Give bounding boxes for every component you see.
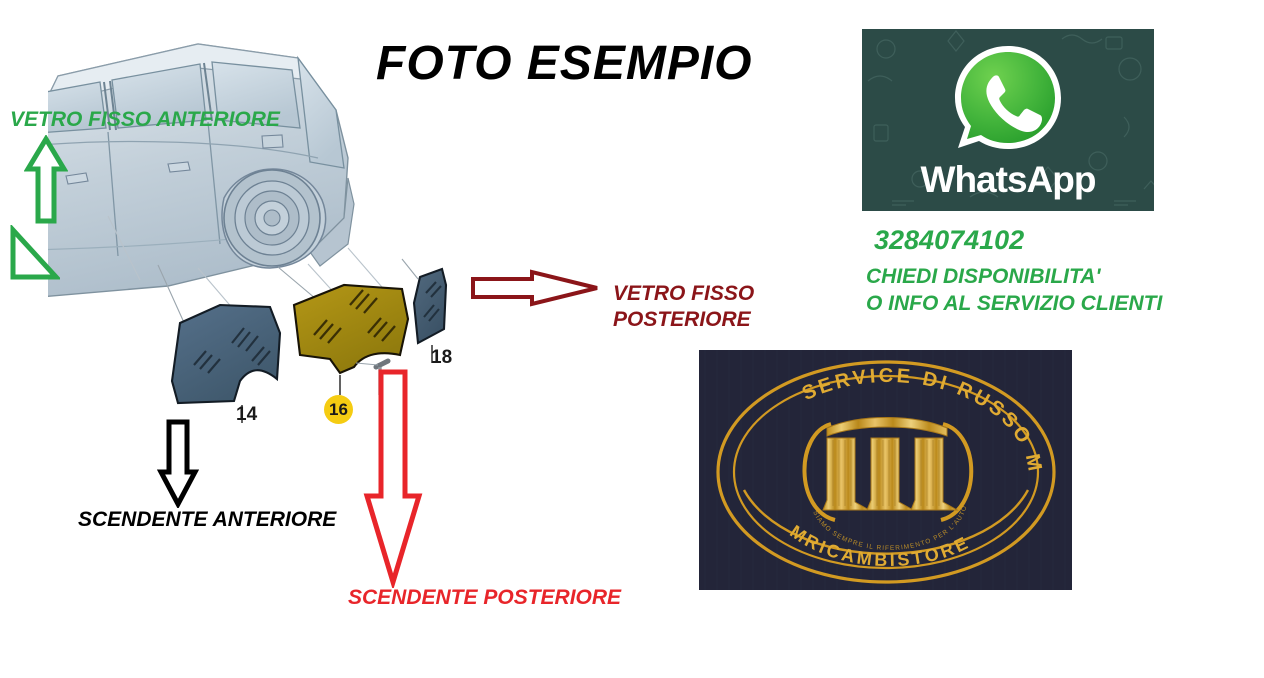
- label-vetro-fisso-posteriore-line2: POSTERIORE: [613, 307, 754, 333]
- part-number-18: 18: [431, 347, 452, 369]
- label-vetro-fisso-posteriore: VETRO FISSO POSTERIORE: [613, 281, 754, 334]
- contact-line-1: CHIEDI DISPONIBILITA': [866, 265, 1100, 289]
- contact-line-2: O INFO AL SERVIZIO CLIENTI: [866, 292, 1162, 316]
- green-triangle-icon: [8, 225, 60, 283]
- part-14-shape: [172, 305, 280, 423]
- shop-logo-banner: SERVICE DI RUSSO MARCO MRICAMBISTORE SIA…: [699, 350, 1072, 590]
- page-title: FOTO ESEMPIO: [376, 36, 796, 91]
- label-vetro-fisso-posteriore-line1: VETRO FISSO: [613, 281, 754, 307]
- part-number-14: 14: [236, 404, 257, 426]
- label-scendente-posteriore: SCENDENTE POSTERIORE: [348, 586, 621, 610]
- screenshot-root: 14 16 17 18 FOTO ESEMPIO VETRO FISSO ANT…: [0, 0, 1264, 678]
- label-vetro-fisso-anteriore: VETRO FISSO ANTERIORE: [10, 108, 280, 132]
- whatsapp-banner: WhatsApp: [862, 29, 1154, 211]
- whatsapp-wordmark: WhatsApp: [862, 159, 1154, 201]
- phone-number[interactable]: 3284074102: [874, 225, 1024, 256]
- black-down-arrow-icon: [157, 418, 199, 508]
- label-scendente-anteriore: SCENDENTE ANTERIORE: [78, 508, 336, 532]
- green-up-arrow-icon: [24, 135, 68, 225]
- maroon-right-arrow-icon: [470, 269, 600, 307]
- part-number-16-badge: 16: [324, 395, 353, 424]
- whatsapp-logo-icon: [952, 43, 1064, 155]
- red-down-arrow-icon: [363, 368, 423, 588]
